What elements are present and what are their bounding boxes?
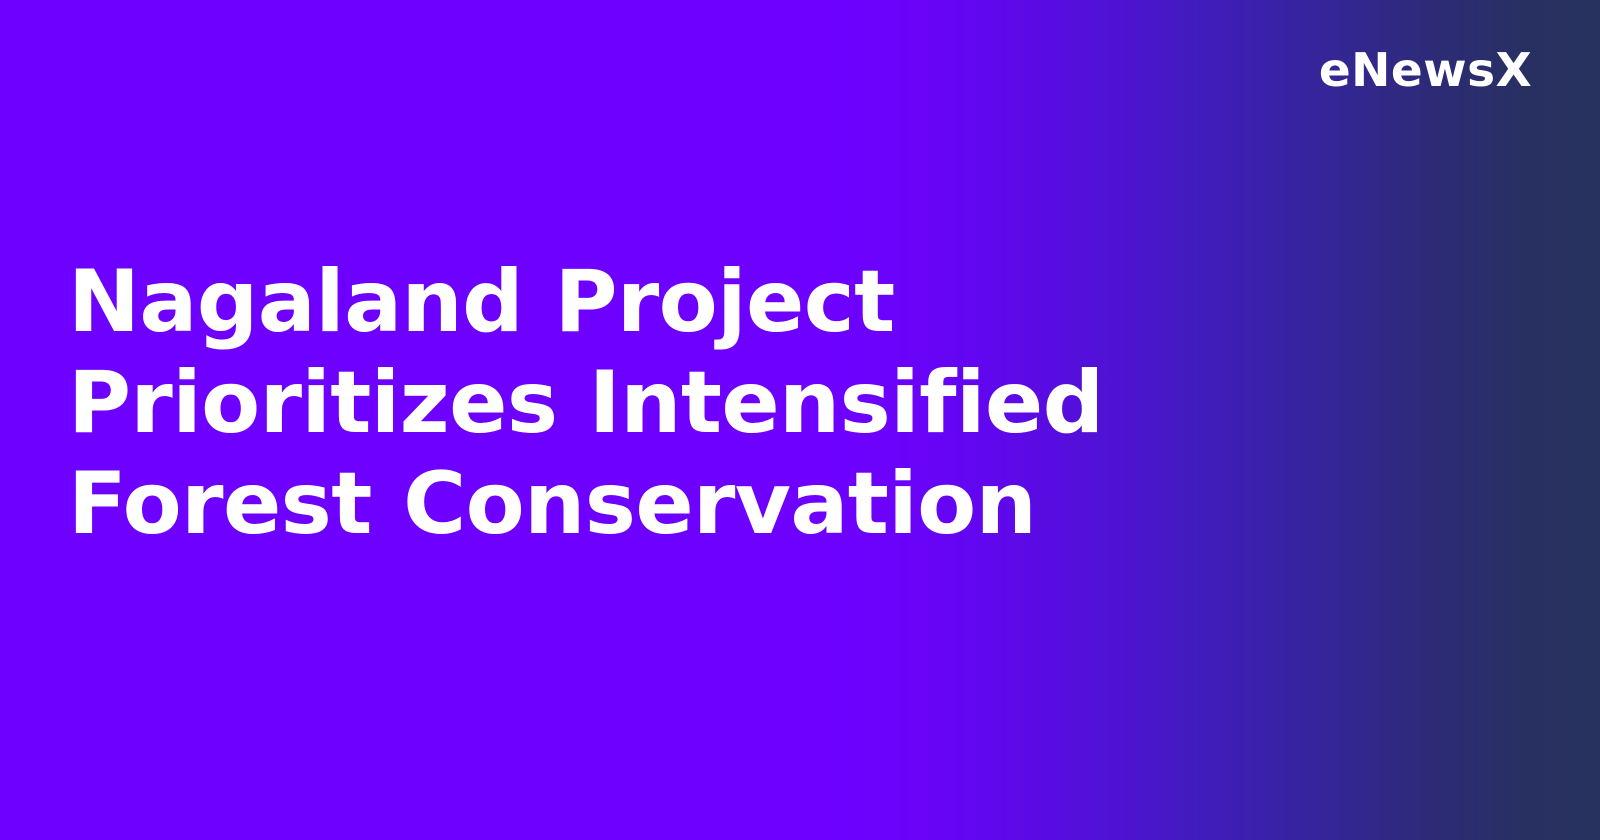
headline-container: Nagaland Project Prioritizes Intensified…	[68, 252, 1413, 555]
banner-header: eNewsX	[0, 0, 1600, 140]
enewsx-logo[interactable]: eNewsX	[1319, 47, 1532, 93]
article-banner: eNewsX Nagaland Project Prioritizes Inte…	[0, 0, 1600, 840]
article-headline: Nagaland Project Prioritizes Intensified…	[68, 252, 1413, 555]
